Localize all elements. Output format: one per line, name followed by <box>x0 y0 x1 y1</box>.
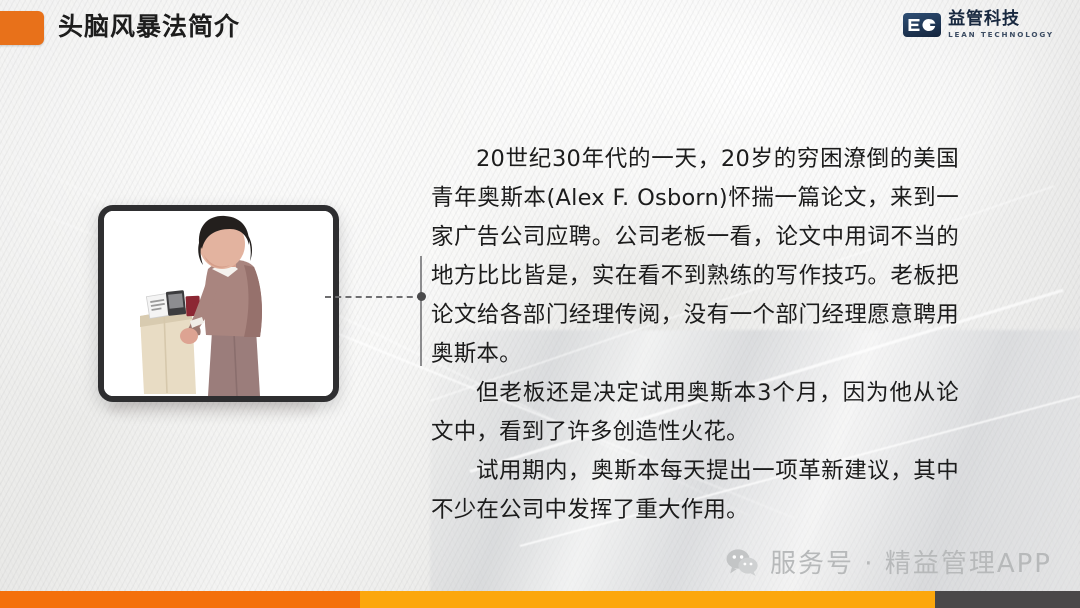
body-text-block: 20世纪30年代的一天，20岁的穷困潦倒的美国青年奥斯本(Alex F. Osb… <box>431 140 959 530</box>
paragraph-1: 20世纪30年代的一天，20岁的穷困潦倒的美国青年奥斯本(Alex F. Osb… <box>431 140 959 374</box>
eg-logo-icon <box>903 13 941 37</box>
logo-name-cn: 益管科技 <box>948 11 1054 28</box>
watermark: 服务号 · 精益管理APP <box>725 543 1052 580</box>
paragraph-2: 但老板还是决定试用奥斯本3个月，因为他从论文中，看到了许多创造性火花。 <box>431 374 959 452</box>
photo-image <box>104 211 333 396</box>
bottom-color-bar <box>0 591 1080 608</box>
bottom-bar-segment-orange <box>0 591 360 608</box>
page-title: 头脑风暴法简介 <box>58 9 240 45</box>
photo-card <box>98 205 339 402</box>
watermark-text: 服务号 · 精益管理APP <box>770 543 1052 580</box>
logo-name-en: LEAN TECHNOLOGY <box>948 31 1054 38</box>
bottom-bar-segment-amber <box>360 591 935 608</box>
bottom-bar-segment-dark <box>935 591 1080 608</box>
connector-vertical-line <box>420 256 422 366</box>
brand-logo: 益管科技 LEAN TECHNOLOGY <box>903 11 1054 38</box>
header-accent-tab <box>0 11 44 45</box>
wechat-icon <box>725 548 759 576</box>
slide: 头脑风暴法简介 益管科技 LEAN TECHNOLOGY <box>0 0 1080 608</box>
paragraph-3: 试用期内，奥斯本每天提出一项革新建议，其中不少在公司中发挥了重大作用。 <box>431 452 959 530</box>
connector-dot <box>417 292 426 301</box>
logo-text-block: 益管科技 LEAN TECHNOLOGY <box>948 11 1054 38</box>
connector-dashed-line <box>325 296 423 301</box>
